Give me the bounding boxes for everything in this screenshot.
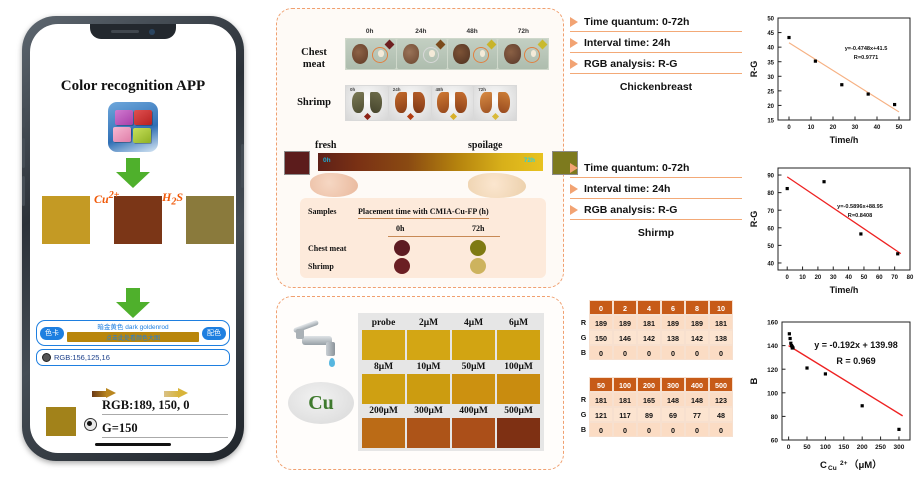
gradient-tick-start: 0h	[323, 157, 331, 164]
svg-text:100: 100	[820, 444, 831, 451]
chip-fresh-color	[284, 151, 310, 175]
home-indicator[interactable]	[95, 443, 171, 446]
color-cubes-icon[interactable]	[108, 102, 158, 152]
rgb-table-cell: 189	[685, 315, 709, 330]
shrimp-72h: 72h	[474, 86, 516, 120]
rgb-table-row: R181181165148148123	[578, 392, 733, 407]
rgb-table-cell: 181	[613, 392, 637, 407]
rgb-table-cell: 0	[637, 345, 661, 360]
samples-divider	[388, 236, 500, 237]
label-fresh: fresh	[315, 140, 336, 151]
svg-text:30: 30	[830, 275, 837, 281]
chart-svg: 01020304050607080405060708090y=-0.5896x+…	[748, 158, 920, 296]
rgb-table-cell: 146	[613, 330, 637, 345]
svg-text:60: 60	[767, 226, 774, 232]
chart-svg: 0501001502002503006080100120140160y = -0…	[748, 306, 920, 472]
rgb-table-low-conc: 0246810R189189181189189181G1501461421381…	[578, 300, 733, 360]
svg-text:10: 10	[799, 275, 806, 281]
rgb-table-cell: 189	[613, 315, 637, 330]
gradient-tick-end: 72h	[524, 157, 535, 164]
chart-annotation: R = 0.969	[836, 356, 875, 366]
svg-text:70: 70	[891, 275, 898, 281]
svg-text:50: 50	[803, 444, 811, 451]
bullet-item: Interval time: 24h	[570, 183, 742, 199]
svg-text:40: 40	[767, 46, 774, 52]
svg-text:35: 35	[767, 60, 774, 66]
rgb-table-header-row: 50100200300400500	[578, 377, 733, 392]
result-rgb-line: RGB:189, 150, 0	[102, 398, 228, 415]
photo-spoiled-meat	[468, 173, 526, 198]
chart-ylabel: B	[749, 377, 760, 384]
rgb-table-cell: 0	[613, 422, 637, 437]
rgb-table-header-cell: 400	[685, 377, 709, 392]
chest-meat-photo-strip	[345, 38, 549, 70]
label-spoilage: spoilage	[468, 140, 502, 151]
chart-annotation: R=0.9771	[854, 55, 878, 61]
svg-text:60: 60	[876, 275, 883, 281]
svg-text:150: 150	[838, 444, 849, 451]
triangle-bullet-icon	[570, 205, 578, 215]
svg-text:30: 30	[852, 125, 859, 131]
bullet-item: Time quantum: 0-72h	[570, 162, 742, 178]
chart-ylabel: R-G	[749, 61, 759, 78]
result-g-line: G=150	[102, 421, 228, 438]
eyedropper-icon[interactable]	[42, 353, 51, 362]
cu-cell-swatch	[407, 418, 450, 448]
rgb-table-header-cell: 50	[589, 377, 613, 392]
rgb-table-cell: 181	[589, 392, 613, 407]
rgb-readout-field[interactable]: RGB:156,125,16	[36, 349, 230, 366]
cu-cell-label: probe	[362, 317, 405, 329]
color-card-center: 暗金黄色 dark goldenrod 点击此处看颜色大图	[64, 324, 202, 343]
cu-swatch-row	[362, 418, 540, 448]
down-arrow-icon-2	[116, 288, 150, 318]
bullet-footer-chicken: Chickenbreast	[570, 79, 742, 93]
rgb-table-high-conc: 50100200300400500R181181165148148123G121…	[578, 377, 733, 437]
rgb-table-row-label: G	[578, 330, 589, 345]
color-card-button[interactable]: 色卡	[40, 327, 64, 340]
phone-button-volume-down[interactable]	[22, 176, 25, 206]
triangle-bullet-icon	[570, 184, 578, 194]
bullet-text: RGB analysis: R-G	[584, 58, 677, 70]
tray-48h	[448, 39, 498, 69]
cu-cell-label: 4μM	[452, 317, 495, 329]
samples-main-header: Placement time with CMIA-Cu-FP (h)	[358, 207, 489, 219]
water-drop-icon	[329, 358, 335, 367]
rgb-table-corner	[578, 377, 589, 392]
svg-text:40: 40	[845, 275, 852, 281]
color-preview-bar[interactable]: 点击此处看颜色大图	[67, 332, 199, 342]
cu-cell-swatch	[362, 418, 405, 448]
svg-text:10: 10	[808, 125, 815, 131]
speaker-icon	[111, 30, 139, 33]
sample-dot-chest-0h	[394, 240, 410, 256]
rgb-table-cell: 138	[709, 330, 733, 345]
svg-text:80: 80	[767, 191, 774, 197]
phone-body: Color recognition APP Cu2	[22, 16, 244, 461]
svg-text:80: 80	[907, 275, 914, 281]
cu-cell-swatch	[362, 374, 405, 404]
svg-text:160: 160	[767, 320, 778, 327]
rgb-table-cell: 0	[589, 422, 613, 437]
sample-dot-shrimp-0h	[394, 258, 410, 274]
samples-table: Samples Placement time with CMIA-Cu-FP (…	[300, 198, 546, 278]
svg-text:250: 250	[875, 444, 886, 451]
swatch-cu-complex	[114, 196, 162, 244]
cu-badge: Cu	[288, 382, 354, 424]
svg-text:50: 50	[767, 17, 774, 23]
svg-text:80: 80	[771, 414, 779, 421]
cu-badge-label: Cu	[308, 392, 334, 415]
cube-magenta	[115, 110, 133, 125]
tick-0h: 0h	[344, 28, 395, 35]
cu-cell-label: 6μM	[497, 317, 540, 329]
color-name-label: 暗金黄色 dark goldenrod	[67, 324, 199, 332]
svg-text:（μM）: （μM）	[849, 459, 882, 471]
svg-text:50: 50	[861, 275, 868, 281]
rgb-table-row: G150146142138142138	[578, 330, 733, 345]
rgb-table-header-cell: 8	[685, 300, 709, 315]
cu-swatch-row	[362, 330, 540, 360]
svg-text:2+: 2+	[840, 460, 848, 467]
phone-button-silent[interactable]	[22, 108, 25, 128]
svg-text:50: 50	[767, 244, 774, 250]
svg-text:300: 300	[894, 444, 905, 451]
color-card-widget[interactable]: 色卡 暗金黄色 dark goldenrod 点击此处看颜色大图 配色	[36, 320, 230, 346]
rgb-table-cell: 181	[637, 315, 661, 330]
rgb-table-cell: 89	[637, 407, 661, 422]
rgb-table-cell: 0	[709, 422, 733, 437]
chart-xlabel: CCu2+（μM）	[820, 459, 882, 472]
rgb-table-row: B000000	[578, 345, 733, 360]
label-cu-ion: Cu2+	[94, 190, 119, 207]
app-title: Color recognition APP	[30, 78, 236, 95]
cu-cell-swatch	[497, 330, 540, 360]
shrimp-0h: 0h	[346, 86, 388, 120]
bullet-list-chicken: Time quantum: 0-72h Interval time: 24h R…	[570, 16, 742, 93]
rgb-table-cell: 148	[661, 392, 685, 407]
phone-button-power[interactable]	[241, 144, 244, 188]
samples-col-header: Samples	[308, 207, 336, 216]
cu-cell-swatch	[407, 330, 450, 360]
svg-text:120: 120	[767, 367, 778, 374]
svg-text:0: 0	[787, 444, 791, 451]
rgb-table-cell: 138	[661, 330, 685, 345]
rgb-table-header-cell: 6	[661, 300, 685, 315]
bullet-text: Interval time: 24h	[584, 37, 670, 49]
rgb-table-header-cell: 500	[709, 377, 733, 392]
cu-cell-label: 100μM	[497, 361, 540, 373]
samples-time-0h: 0h	[396, 224, 404, 233]
shrimp-24h: 24h	[389, 86, 431, 120]
phone-mockup: Color recognition APP Cu2	[14, 8, 262, 473]
rgb-table-header-cell: 10	[709, 300, 733, 315]
rgb-table-cell: 150	[589, 330, 613, 345]
cu-cell-label: 500μM	[497, 405, 540, 417]
rgb-table-cell: 69	[661, 407, 685, 422]
svg-text:50: 50	[896, 125, 903, 131]
bullet-item: RGB analysis: R-G	[570, 58, 742, 74]
chart-xlabel: Time/h	[830, 285, 859, 295]
rgb-table-cell: 0	[589, 345, 613, 360]
cu-caption-row: 8μM10μM50μM100μM	[362, 361, 540, 373]
bullet-item: RGB analysis: R-G	[570, 204, 742, 220]
bullet-text: Time quantum: 0-72h	[584, 16, 689, 28]
svg-text:25: 25	[767, 89, 774, 95]
rgb-table-row-label: R	[578, 392, 589, 407]
rgb-table-cell: 0	[661, 345, 685, 360]
samples-row-chest-meat: Chest meat	[308, 244, 346, 253]
tray-0h	[346, 39, 396, 69]
triangle-bullet-icon	[570, 17, 578, 27]
rgb-table-row-label: G	[578, 407, 589, 422]
chest-time-ticks: 0h 24h 48h 72h	[344, 28, 549, 35]
rgb-table-cell: 48	[709, 407, 733, 422]
cu-cell-swatch	[407, 374, 450, 404]
rgb-table-cell: 0	[685, 422, 709, 437]
shrimp-photo-strip: 0h 24h 48h 72h	[345, 85, 517, 121]
tray-72h	[498, 39, 548, 69]
svg-text:C: C	[820, 460, 827, 471]
swatch-probe	[42, 196, 90, 244]
shrimp-48h: 48h	[432, 86, 474, 120]
rgb-table-cell: 0	[709, 345, 733, 360]
rgb-table-cell: 189	[589, 315, 613, 330]
rgb-table-cell: 117	[613, 407, 637, 422]
rgb-table-header-cell: 100	[613, 377, 637, 392]
rgb-table-row: R189189181189189181	[578, 315, 733, 330]
rgb-table-row-label: R	[578, 315, 589, 330]
rgb-table-cell: 148	[685, 392, 709, 407]
cu-caption-row: probe2μM4μM6μM	[362, 317, 540, 329]
rgb-table-header-cell: 200	[637, 377, 661, 392]
phone-screen: Color recognition APP Cu2	[30, 24, 236, 453]
cube-red	[134, 110, 152, 125]
bullet-item: Interval time: 24h	[570, 37, 742, 53]
rgb-table-cell: 123	[709, 392, 733, 407]
cu-cell-swatch	[452, 330, 495, 360]
rgb-table-row-label: B	[578, 422, 589, 437]
color-match-button[interactable]: 配色	[202, 327, 226, 340]
cu-cell-label: 400μM	[452, 405, 495, 417]
svg-text:70: 70	[767, 209, 774, 215]
rgb-table-corner	[578, 300, 589, 315]
row-label-chest-meat: Chestmeat	[292, 47, 336, 70]
cu-cell-swatch	[362, 330, 405, 360]
samples-row-shrimp: Shrimp	[308, 262, 334, 271]
chart-svg: 010203040501520253035404550y=-0.4748x+41…	[748, 8, 920, 146]
cu-cell-label: 10μM	[407, 361, 450, 373]
phone-notch	[90, 24, 176, 39]
sample-dot-chest-72h	[470, 240, 486, 256]
result-swatch	[46, 407, 76, 436]
cu-cell-swatch	[497, 374, 540, 404]
chart-b-vs-cu-concentration: 0501001502002503006080100120140160y = -0…	[748, 306, 920, 472]
svg-text:20: 20	[767, 104, 774, 110]
chart-annotation: y = -0.192x + 139.98	[814, 340, 898, 350]
camera-icon	[149, 29, 155, 35]
cu-cell-label: 8μM	[362, 361, 405, 373]
figure-root: Color recognition APP Cu2	[0, 0, 924, 479]
cu-concentration-grid: probe2μM4μM6μM8μM10μM50μM100μM200μM300μM…	[358, 313, 544, 451]
reaction-swatch-row	[30, 196, 236, 246]
bullet-text: Interval time: 24h	[584, 183, 670, 195]
rgb-table-header-cell: 300	[661, 377, 685, 392]
svg-text:30: 30	[767, 75, 774, 81]
chart-ylabel: R-G	[749, 211, 759, 228]
svg-text:90: 90	[767, 174, 774, 180]
rgb-table-header-cell: 0	[589, 300, 613, 315]
chart-annotation: y=-0.4748x+41.5	[845, 46, 888, 52]
triangle-bullet-icon	[570, 163, 578, 173]
bullet-text: RGB analysis: R-G	[584, 204, 677, 216]
svg-text:0: 0	[787, 125, 791, 131]
rgb-table-cell: 121	[589, 407, 613, 422]
svg-text:140: 140	[767, 343, 778, 350]
rgb-table-cell: 165	[637, 392, 661, 407]
rgb-table-cell: 0	[661, 422, 685, 437]
svg-text:60: 60	[771, 438, 779, 445]
triangle-bullet-icon	[570, 59, 578, 69]
cu-cell-swatch	[452, 374, 495, 404]
cu-cell-label: 300μM	[407, 405, 450, 417]
rgb-table-cell: 0	[685, 345, 709, 360]
cu-cell-swatch	[497, 418, 540, 448]
cu-cell-label: 50μM	[452, 361, 495, 373]
color-preview-hint: 点击此处看颜色大图	[106, 333, 160, 342]
cube-pink	[113, 127, 131, 142]
result-radio[interactable]	[84, 418, 97, 431]
rgb-table-cell: 0	[613, 345, 637, 360]
tick-72h: 72h	[498, 28, 549, 35]
rgb-table-cell: 181	[709, 315, 733, 330]
svg-text:45: 45	[767, 31, 774, 37]
cu-caption-row: 200μM300μM400μM500μM	[362, 405, 540, 417]
svg-text:Cu: Cu	[828, 465, 837, 472]
rgb-readout-value: RGB:156,125,16	[54, 353, 110, 362]
rgb-table-header-cell: 4	[637, 300, 661, 315]
swatch-h2s-product	[186, 196, 234, 244]
samples-time-72h: 72h	[472, 224, 484, 233]
rgb-table-header-cell: 2	[613, 300, 637, 315]
tick-48h: 48h	[447, 28, 498, 35]
rgb-table-cell: 142	[637, 330, 661, 345]
rgb-table-cell: 77	[685, 407, 709, 422]
svg-text:40: 40	[767, 262, 774, 268]
chart-xlabel: Time/h	[830, 135, 859, 145]
svg-text:20: 20	[830, 125, 837, 131]
rgb-table-cell: 142	[685, 330, 709, 345]
photo-fresh-meat	[310, 173, 358, 197]
tray-24h	[397, 39, 447, 69]
svg-text:20: 20	[815, 275, 822, 281]
svg-text:15: 15	[767, 119, 774, 125]
faucet-icon	[290, 320, 352, 368]
label-h2s: H2S	[162, 190, 183, 207]
freshness-gradient-bar: 0h 72h	[318, 153, 543, 171]
rgb-table-row: G12111789697748	[578, 407, 733, 422]
tick-24h: 24h	[395, 28, 446, 35]
rgb-table-row-label: B	[578, 345, 589, 360]
rgb-table-row: B000000	[578, 422, 733, 437]
svg-text:40: 40	[874, 125, 881, 131]
svg-text:100: 100	[767, 390, 778, 397]
rgb-table-header-row: 0246810	[578, 300, 733, 315]
cube-green	[133, 128, 151, 143]
bullet-footer-shrimp: Shirmp	[570, 225, 742, 239]
chart-chicken-rg-vs-time: 010203040501520253035404550y=-0.4748x+41…	[748, 8, 920, 146]
bullet-text: Time quantum: 0-72h	[584, 162, 689, 174]
bullet-item: Time quantum: 0-72h	[570, 16, 742, 32]
result-lines: RGB:189, 150, 0 G=150	[102, 398, 228, 444]
svg-text:200: 200	[857, 444, 868, 451]
cu-cell-label: 2μM	[407, 317, 450, 329]
phone-button-volume-up[interactable]	[22, 138, 25, 168]
down-arrow-icon-1	[116, 158, 150, 188]
cu-cell-swatch	[452, 418, 495, 448]
chart-shrimp-rg-vs-time: 01020304050607080405060708090y=-0.5896x+…	[748, 158, 920, 296]
chart-annotation: y=-0.5896x+88.95	[837, 204, 883, 210]
rgb-table-cell: 0	[637, 422, 661, 437]
sample-dot-shrimp-72h	[470, 258, 486, 274]
chart-annotation: R=0.8408	[848, 213, 872, 219]
bullet-list-shrimp: Time quantum: 0-72h Interval time: 24h R…	[570, 162, 742, 239]
svg-text:0: 0	[786, 275, 790, 281]
rgb-table-cell: 189	[661, 315, 685, 330]
triangle-bullet-icon	[570, 38, 578, 48]
cu-cell-label: 200μM	[362, 405, 405, 417]
row-label-shrimp: Shrimp	[292, 97, 336, 109]
cu-swatch-row	[362, 374, 540, 404]
